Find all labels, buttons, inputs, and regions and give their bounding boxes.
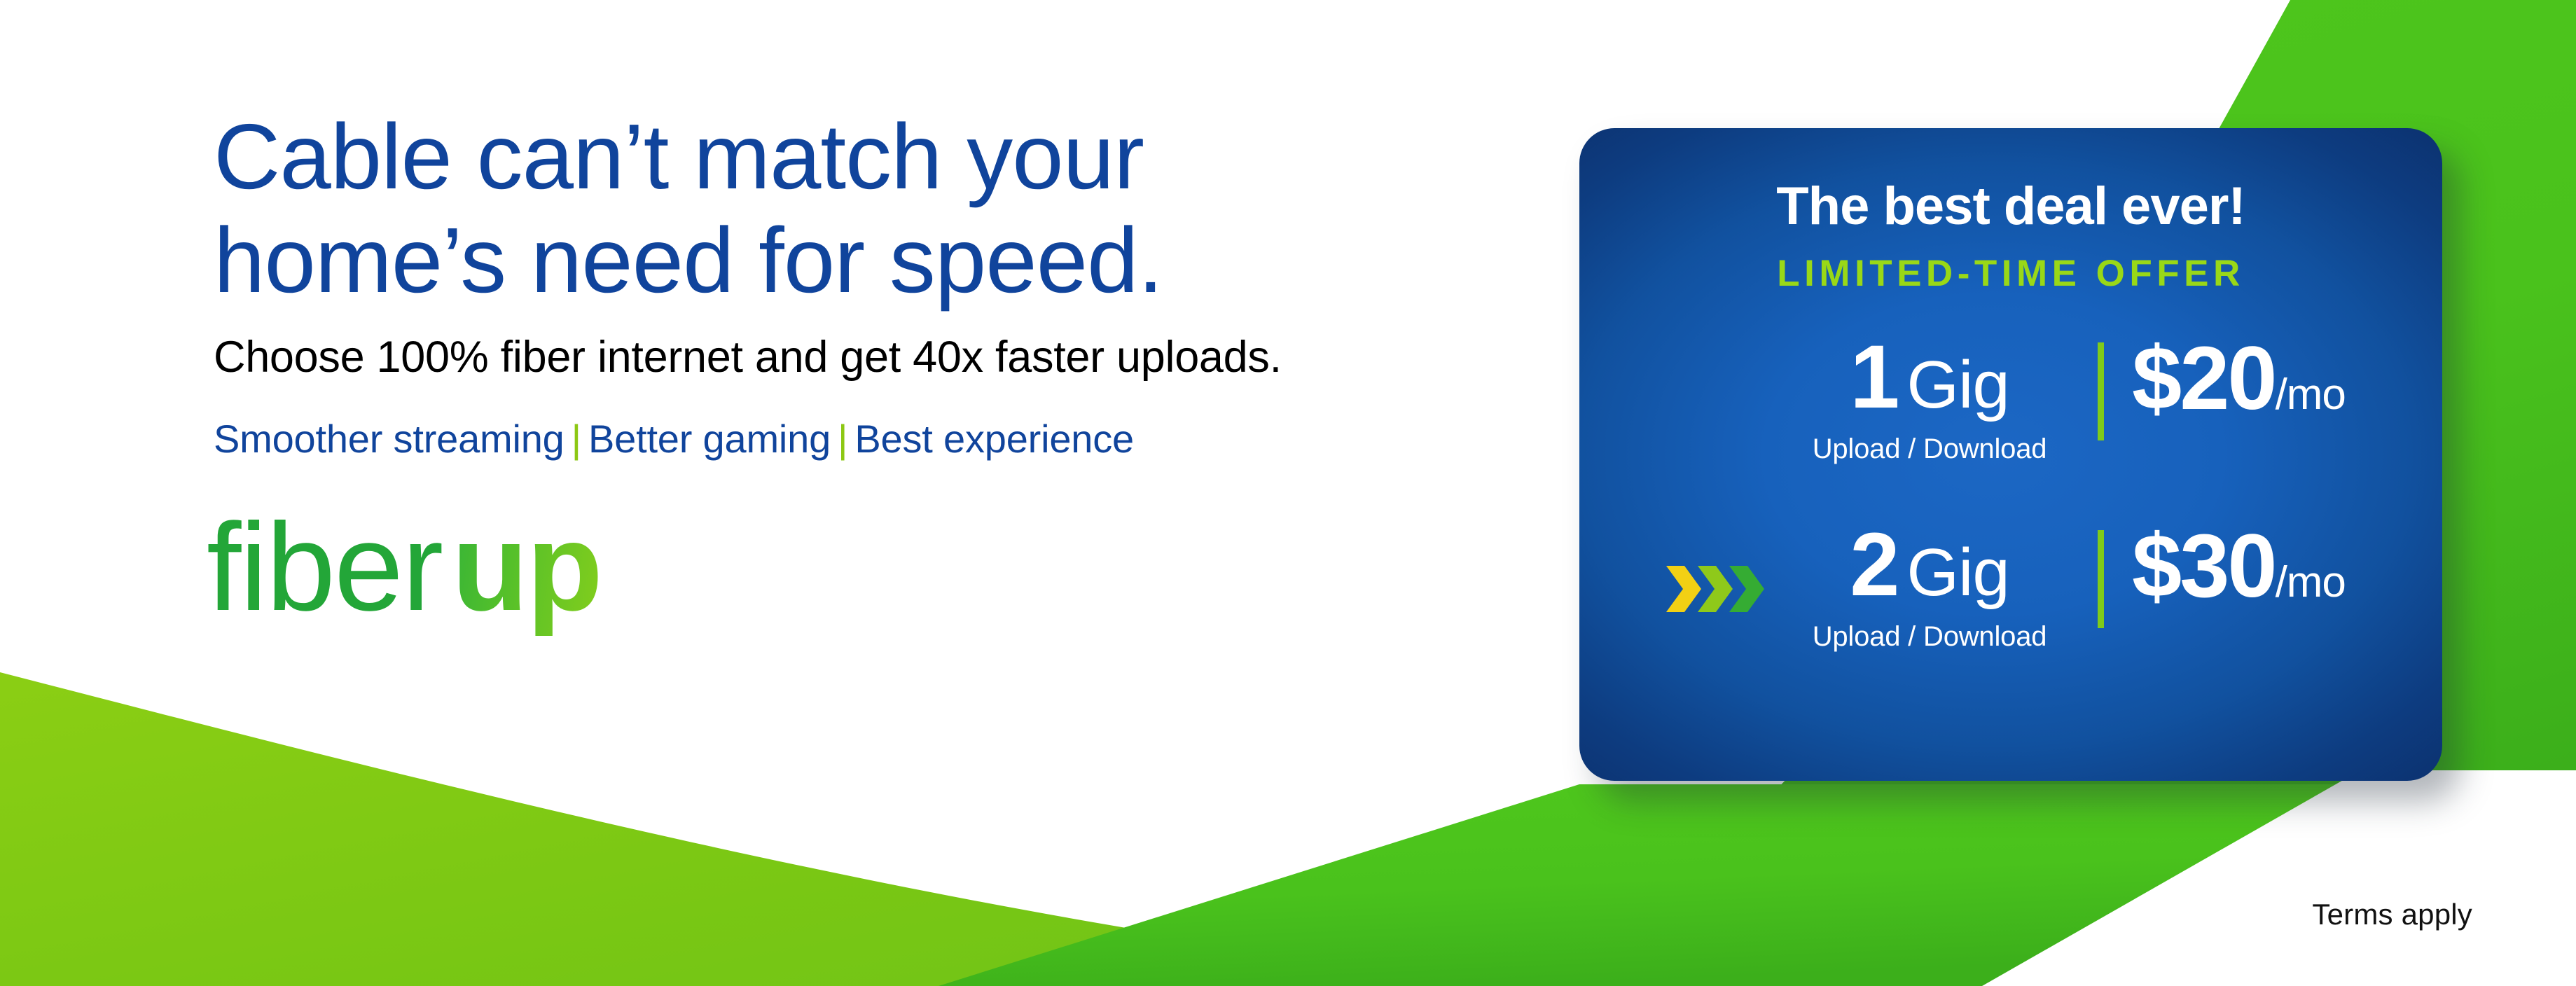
band-shape-bottom xyxy=(939,784,2576,986)
headline-line-2: home’s need for speed. xyxy=(214,209,1544,312)
plan-price-column: $30/mo xyxy=(2132,520,2346,611)
offer-card: The best deal ever! LIMITED-TIME OFFER 1… xyxy=(1579,128,2442,781)
chevron-slot xyxy=(1663,520,1789,625)
plan-speed-note: Upload / Download xyxy=(1789,621,2070,653)
plan-speed-unit: Gig xyxy=(1898,535,2009,610)
benefit-separator-1: | xyxy=(565,417,588,461)
offer-card-title: The best deal ever! xyxy=(1579,176,2442,237)
plan-price-column: $20/mo xyxy=(2132,333,2346,424)
plan-divider xyxy=(2098,530,2104,628)
fiber-up-logo: fiberup xyxy=(207,505,1544,630)
page-title: Cable can’t match your home’s need for s… xyxy=(214,105,1544,312)
benefit-item-2: Better gaming xyxy=(588,417,831,461)
logo-word-up: up xyxy=(442,497,601,637)
plan-divider xyxy=(2098,342,2104,440)
offer-card-kicker: LIMITED-TIME OFFER xyxy=(1579,252,2442,295)
plan-row: 1Gig Upload / Download $20/mo xyxy=(1663,333,2346,465)
headline-line-1: Cable can’t match your xyxy=(214,105,1544,209)
arc-shape-bottom-left xyxy=(0,672,1555,986)
terms-apply-text: Terms apply xyxy=(2312,898,2472,931)
plan-speed-unit: Gig xyxy=(1898,347,2009,422)
plan-price-amount: $20 xyxy=(2132,328,2276,429)
plan-price-amount: $30 xyxy=(2132,516,2276,616)
plan-speed-column: 2Gig Upload / Download xyxy=(1789,520,2070,653)
triple-chevron-icon xyxy=(1663,562,1770,616)
plan-speed-number: 2 xyxy=(1850,515,1898,615)
chevron-slot-empty xyxy=(1663,333,1789,438)
subheadline: Choose 100% fiber internet and get 40x f… xyxy=(214,332,1544,382)
benefits-list: Smoother streaming|Better gaming|Best ex… xyxy=(214,416,1544,461)
benefit-item-3: Best experience xyxy=(854,417,1134,461)
benefit-item-1: Smoother streaming xyxy=(214,417,565,461)
plan-row: 2Gig Upload / Download $30/mo xyxy=(1663,520,2346,653)
plan-price-period: /mo xyxy=(2276,370,2346,419)
offer-card-inner: The best deal ever! LIMITED-TIME OFFER 1… xyxy=(1579,128,2442,781)
benefit-separator-2: | xyxy=(831,417,854,461)
promo-banner: Cable can’t match your home’s need for s… xyxy=(0,0,2576,986)
logo-word-fiber: fiber xyxy=(207,497,442,637)
plan-price-period: /mo xyxy=(2276,558,2346,606)
plan-speed-column: 1Gig Upload / Download xyxy=(1789,333,2070,465)
plan-speed-line: 1Gig xyxy=(1789,333,2070,422)
white-wedge-bottom-right xyxy=(1982,770,2576,986)
copy-block: Cable can’t match your home’s need for s… xyxy=(214,105,1544,630)
plan-speed-number: 1 xyxy=(1850,327,1898,427)
plan-speed-note: Upload / Download xyxy=(1789,433,2070,465)
plan-speed-line: 2Gig xyxy=(1789,520,2070,610)
